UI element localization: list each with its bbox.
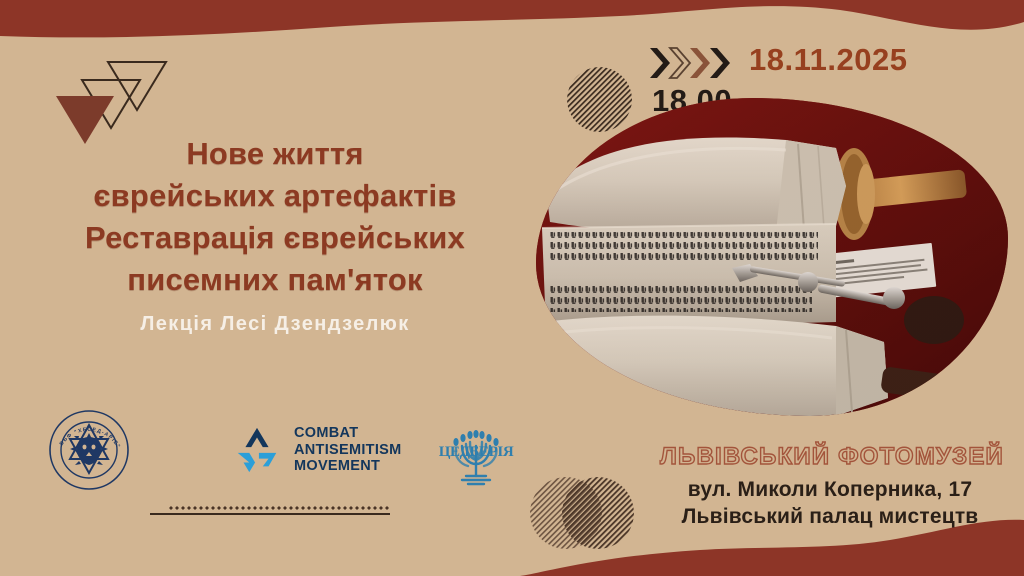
star-of-david-icon <box>230 423 284 477</box>
venue-block: ЛЬВІВСЬКИЙ ФОТОМУЗЕЙ вул. Миколи Коперни… <box>660 443 1000 531</box>
chevron-arrows-decoration <box>648 44 734 82</box>
tsedveriya-logo: ЦЕДБЕРІЯ <box>432 412 520 492</box>
solid-line-decoration <box>150 513 390 515</box>
torah-scroll-illustration <box>536 98 1008 416</box>
striped-circle-icon-right <box>562 477 634 549</box>
combat-antisemitism-movement-logo: COMBAT ANTISEMITISM MOVEMENT <box>230 422 410 478</box>
event-poster: 18.11.2025 18.00 <box>0 0 1024 576</box>
cam-logo-line-2: ANTISEMITISM <box>294 442 402 459</box>
title-line-1: Нове життя <box>40 133 510 175</box>
cam-logo-line-3: MOVEMENT <box>294 458 402 475</box>
partner-logos: ВБФ "ХЕСЕД-АРІЕ" COMBAT ANTISEMITISM MOV… <box>40 404 510 496</box>
title-line-2: єврейських артефактів <box>40 175 510 217</box>
title-line-3: Реставрація єврейських <box>40 217 510 259</box>
tsedveriya-logo-text: ЦЕДБЕРІЯ <box>439 444 514 460</box>
event-photo <box>536 98 1008 416</box>
dotted-line-decoration <box>168 505 390 510</box>
venue-address-line-2: Львівський палац мистецтв <box>660 504 1000 531</box>
photo-blob-mask <box>536 98 1008 416</box>
lecture-subtitle: Лекція Лесі Дзендзелюк <box>40 313 510 336</box>
event-date: 18.11.2025 <box>749 42 907 78</box>
hesed-arie-logo: ВБФ "ХЕСЕД-АРІЕ" <box>48 409 130 491</box>
venue-address: вул. Миколи Коперника, 17 Львівський пал… <box>660 477 1000 531</box>
venue-address-line-1: вул. Миколи Коперника, 17 <box>660 477 1000 504</box>
divider <box>150 505 390 519</box>
cam-logo-line-1: COMBAT <box>294 425 402 442</box>
venue-name: ЛЬВІВСЬКИЙ ФОТОМУЗЕЙ <box>660 443 1000 471</box>
page-title: Нове життя єврейських артефактів Реставр… <box>40 133 510 302</box>
title-line-4: писемних пам'яток <box>40 259 510 301</box>
